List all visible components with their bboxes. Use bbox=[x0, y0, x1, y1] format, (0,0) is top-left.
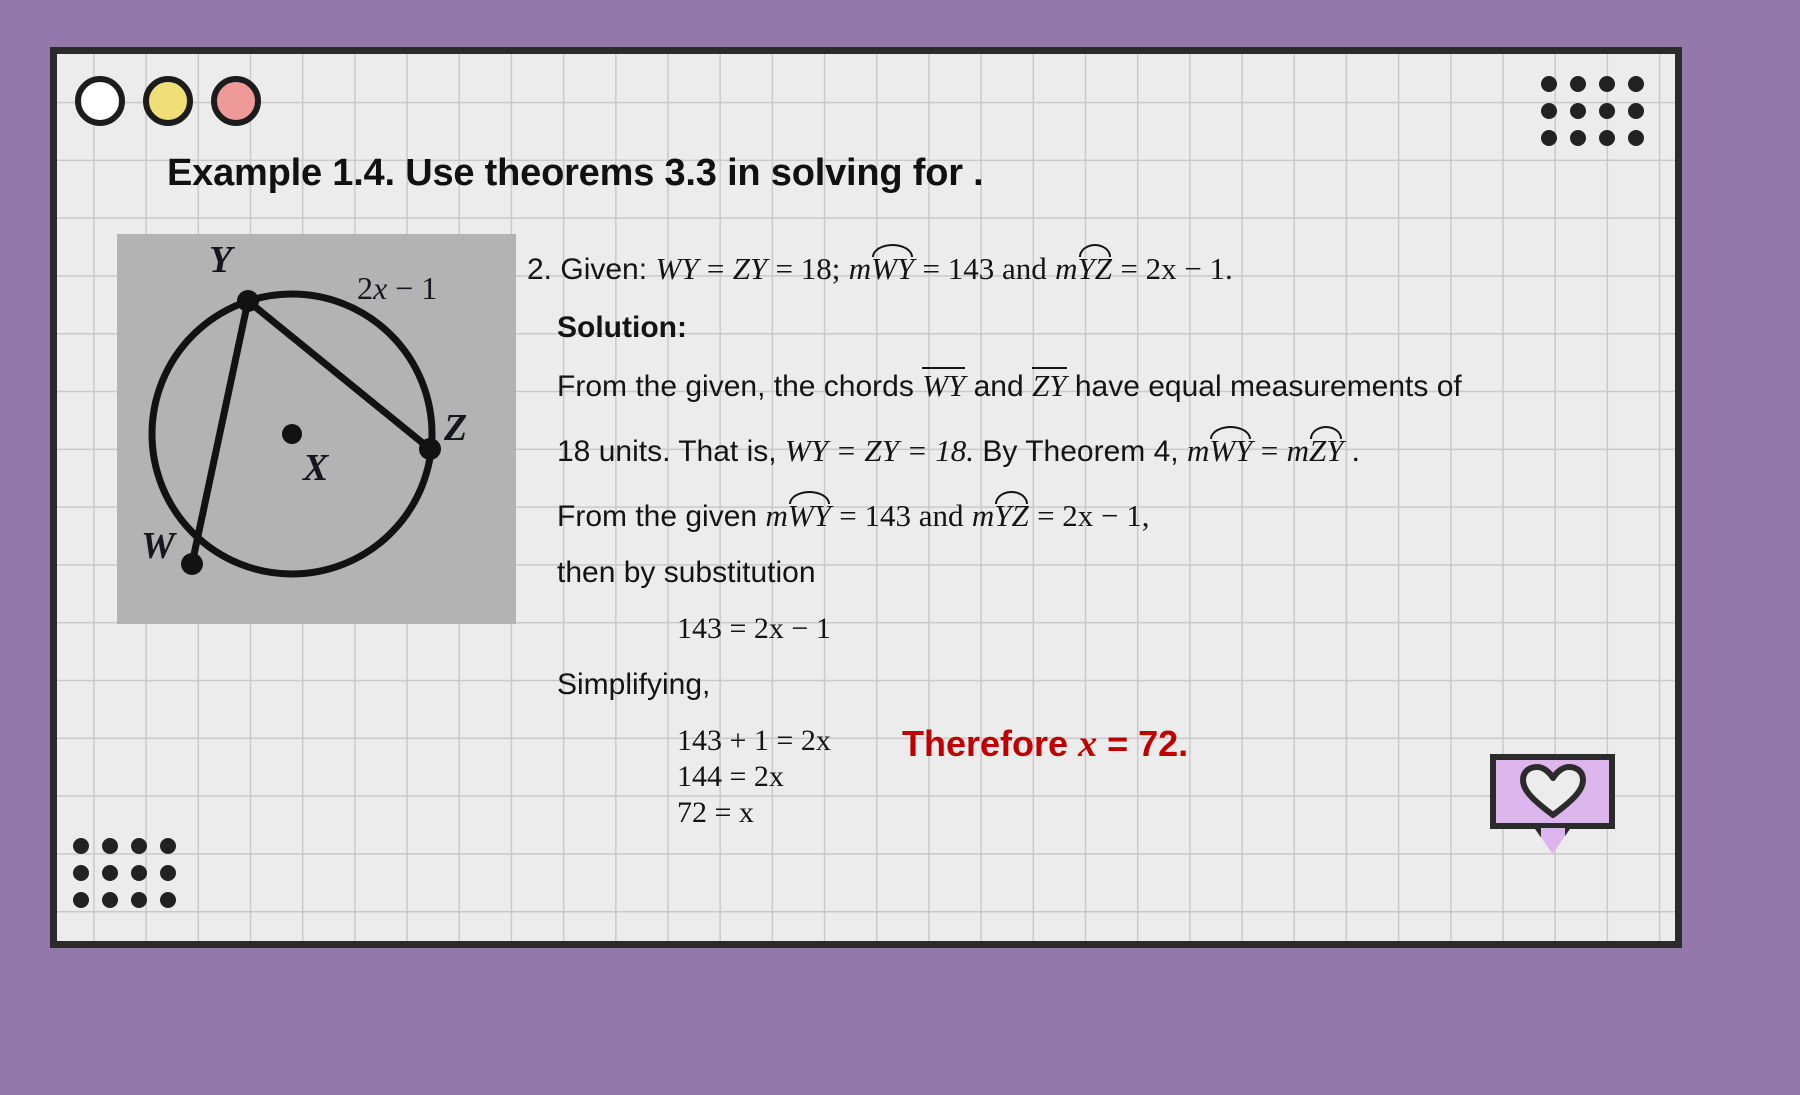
given-arc-yz: YZ bbox=[1078, 244, 1112, 284]
dot bbox=[73, 865, 89, 881]
dot bbox=[1541, 76, 1557, 92]
dot bbox=[131, 892, 147, 908]
page-title: Example 1.4. Use theorems 3.3 in solving… bbox=[167, 152, 984, 195]
solution-line-5: Simplifying, bbox=[557, 668, 1597, 702]
conclusion-equals: = bbox=[1107, 723, 1128, 764]
line1-text-b: and bbox=[974, 370, 1024, 403]
conclusion-prefix: Therefore bbox=[902, 723, 1068, 764]
dot bbox=[1599, 103, 1615, 119]
line3-value-143: = 143 and bbox=[839, 498, 963, 533]
expr-operator: − bbox=[395, 270, 413, 306]
conclusion-variable: x bbox=[1078, 723, 1097, 765]
dot bbox=[73, 892, 89, 908]
line1-text-a: From the given, the chords bbox=[557, 370, 914, 403]
dot bbox=[160, 838, 176, 854]
given-value-expr: = 2x − 1. bbox=[1120, 251, 1232, 286]
figure-arc-expression: 2x − 1 bbox=[357, 270, 437, 307]
line3-text-a: From the given bbox=[557, 500, 757, 533]
dot bbox=[1628, 103, 1644, 119]
window-dot-white[interactable] bbox=[75, 76, 125, 126]
given-line: 2. Given: WY = ZY = 18; mWY = 143 and mY… bbox=[527, 244, 1597, 287]
line3-m-2: m bbox=[972, 498, 994, 533]
line3-arc-yz: YZ bbox=[994, 491, 1028, 531]
center-point-x bbox=[282, 424, 302, 444]
chord-yz bbox=[248, 301, 430, 449]
line2-text-a: 18 units. That is, bbox=[557, 435, 777, 468]
given-m-2: m bbox=[1055, 251, 1077, 286]
given-equals-1: = bbox=[707, 251, 724, 286]
figure-label-w: W bbox=[141, 524, 175, 568]
solution-heading: Solution: bbox=[557, 311, 1597, 345]
line2-text-b: By Theorem 4, bbox=[982, 435, 1178, 468]
dot-grid-bottom-left bbox=[73, 838, 189, 919]
expr-coefficient: 2 bbox=[357, 270, 373, 306]
given-segment-zy: ZY bbox=[733, 251, 767, 286]
dot bbox=[102, 838, 118, 854]
heart-speech-bubble[interactable] bbox=[1490, 754, 1615, 829]
dot bbox=[160, 892, 176, 908]
given-label: Given: bbox=[560, 253, 647, 286]
point-w bbox=[181, 553, 203, 575]
window-dot-pink[interactable] bbox=[211, 76, 261, 126]
solution-line-4: then by substitution bbox=[557, 556, 1597, 590]
dot bbox=[1599, 130, 1615, 146]
conclusion-value: 72 bbox=[1138, 723, 1178, 764]
heart-icon bbox=[1520, 764, 1586, 820]
expr-variable: x bbox=[373, 270, 387, 306]
line2-m-1: m bbox=[1187, 433, 1209, 468]
given-value-18: = 18; bbox=[776, 251, 841, 286]
given-arc-wy: WY bbox=[871, 244, 914, 284]
line2-arc-zy: ZY bbox=[1309, 426, 1343, 466]
point-y bbox=[237, 290, 259, 312]
dot bbox=[1628, 130, 1644, 146]
dot-grid-top-right bbox=[1541, 76, 1657, 157]
solution-line-1: From the given, the chords WY and ZY hav… bbox=[557, 367, 1597, 404]
solution-line-3: From the given mWY = 143 and mYZ = 2x − … bbox=[557, 491, 1597, 534]
figure-label-y: Y bbox=[209, 238, 232, 282]
line2-equation: WY = ZY = 18. bbox=[785, 433, 974, 468]
dot bbox=[131, 838, 147, 854]
line1-text-c: have equal measurements of bbox=[1075, 370, 1462, 403]
conclusion-period: . bbox=[1178, 723, 1188, 764]
line2-m-2: m bbox=[1287, 433, 1309, 468]
circle-diagram: Y Z W X 2x − 1 bbox=[117, 234, 516, 624]
line3-value-expr: = 2x − 1, bbox=[1037, 498, 1149, 533]
expr-constant: 1 bbox=[421, 270, 437, 306]
slide-frame: Example 1.4. Use theorems 3.3 in solving… bbox=[50, 47, 1682, 948]
dot bbox=[1599, 76, 1615, 92]
line3-arc-wy: WY bbox=[788, 491, 831, 531]
dot bbox=[73, 838, 89, 854]
dot bbox=[102, 865, 118, 881]
window-dot-yellow[interactable] bbox=[143, 76, 193, 126]
line1-segment-wy: WY bbox=[922, 367, 965, 401]
dot bbox=[1570, 130, 1586, 146]
figure-label-z: Z bbox=[444, 406, 467, 450]
figure-label-x: X bbox=[303, 446, 328, 490]
line1-segment-zy: ZY bbox=[1032, 367, 1066, 401]
line3-m-1: m bbox=[765, 498, 787, 533]
window-controls bbox=[75, 76, 261, 126]
dot bbox=[160, 865, 176, 881]
line2-period: . bbox=[1352, 433, 1360, 468]
dot bbox=[1541, 103, 1557, 119]
dot bbox=[102, 892, 118, 908]
dot bbox=[131, 865, 147, 881]
given-m-1: m bbox=[849, 251, 871, 286]
dot bbox=[1541, 130, 1557, 146]
conclusion: Therefore x = 72. bbox=[902, 722, 1188, 766]
solution-line-2: 18 units. That is, WY = ZY = 18. By Theo… bbox=[557, 426, 1597, 469]
given-segment-wy: WY bbox=[655, 251, 698, 286]
line2-arc-wy: WY bbox=[1209, 426, 1252, 466]
dot bbox=[1570, 76, 1586, 92]
given-value-143: = 143 and bbox=[923, 251, 1047, 286]
dot bbox=[1570, 103, 1586, 119]
equation-1: 143 = 2x − 1 bbox=[677, 612, 1597, 646]
given-number: 2. bbox=[527, 253, 552, 286]
point-z bbox=[419, 438, 441, 460]
chord-yw bbox=[192, 301, 248, 564]
equation-4: 72 = x bbox=[677, 796, 1597, 830]
dot bbox=[1628, 76, 1644, 92]
line2-equals: = bbox=[1261, 433, 1278, 468]
